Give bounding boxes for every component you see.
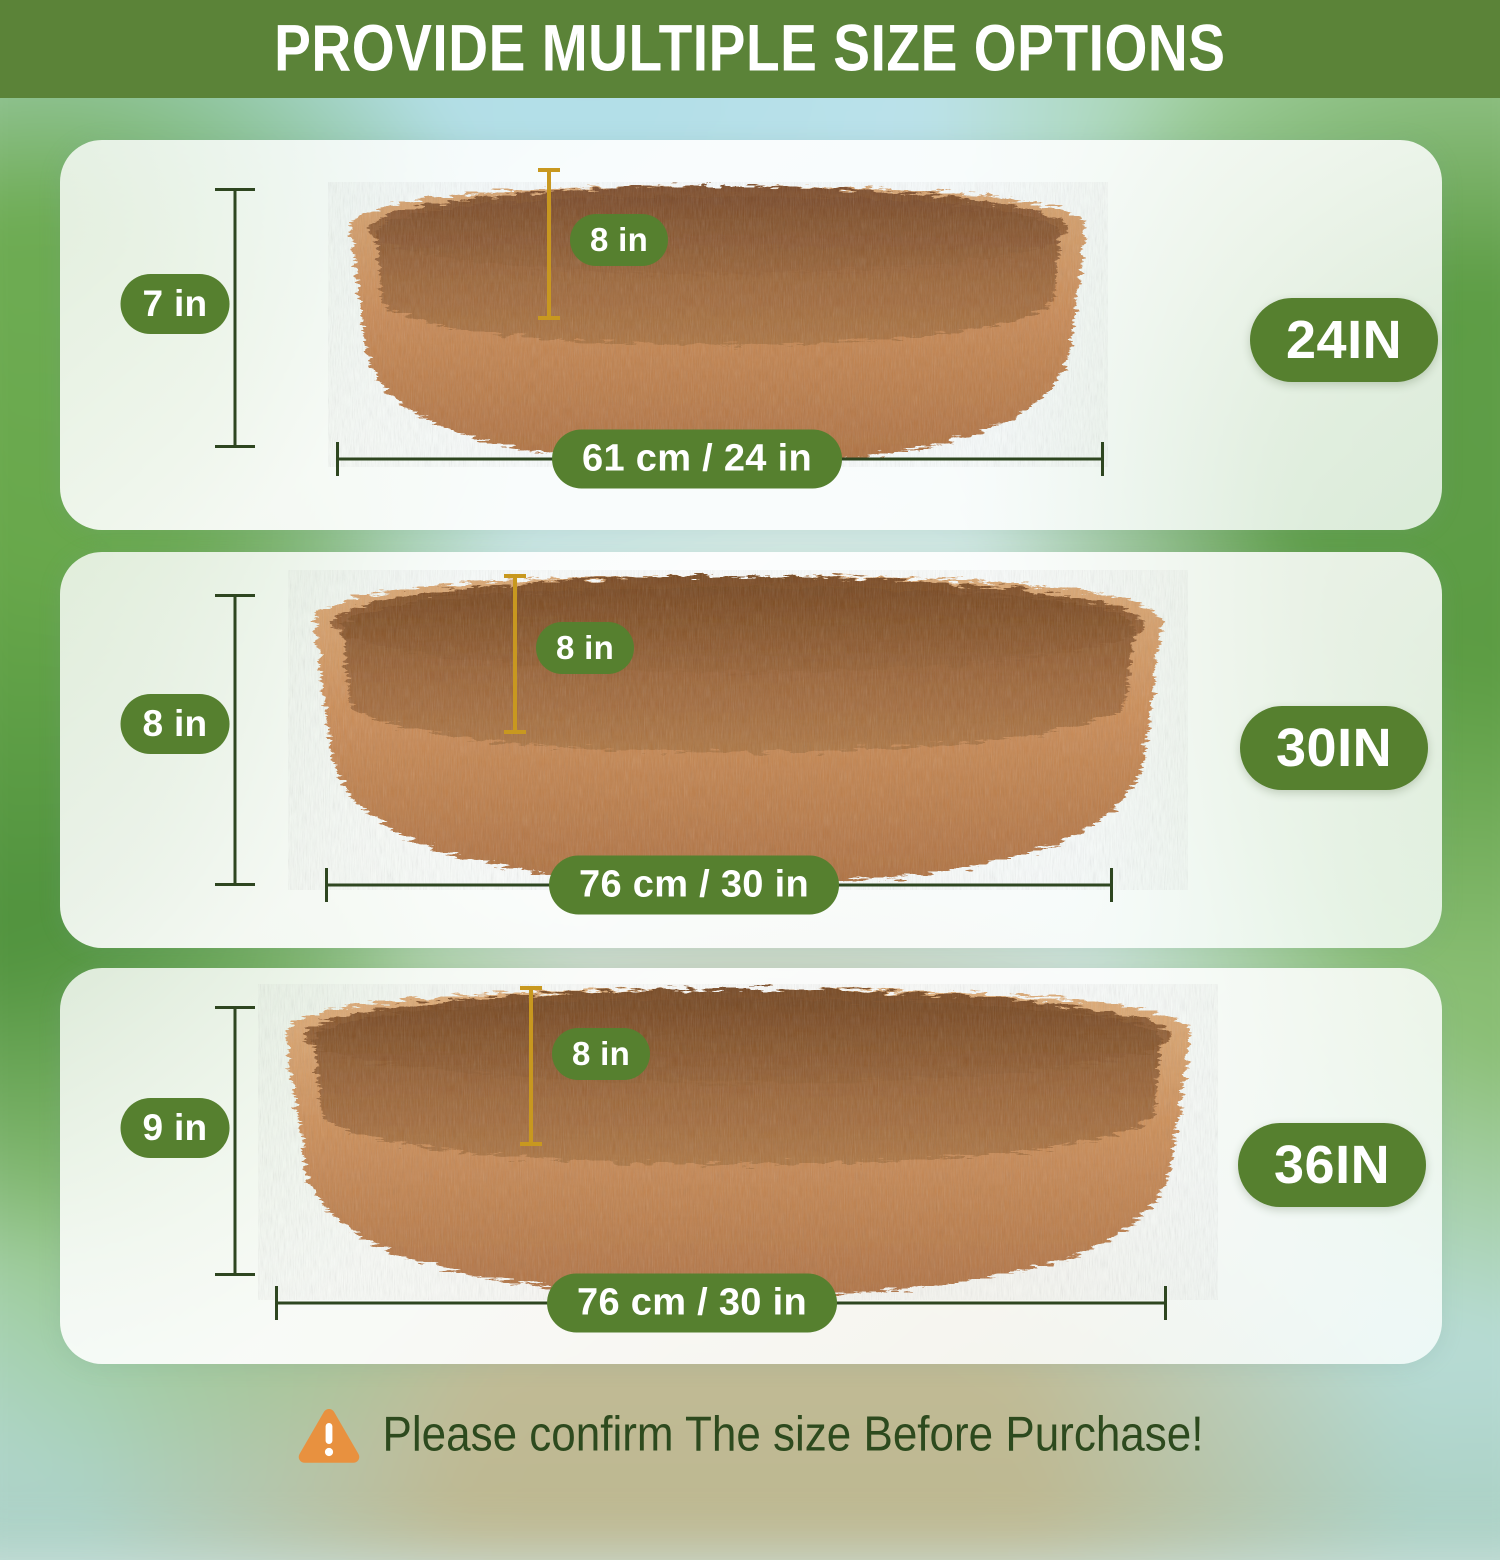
width-label-24in: 61 cm / 24 in	[552, 430, 842, 489]
depth-label-36in: 8 in	[552, 1028, 650, 1080]
size-badge-24in: 24IN	[1250, 298, 1438, 382]
height-label-36in: 9 in	[121, 1098, 230, 1158]
height-label-24in: 7 in	[121, 274, 230, 334]
page-title: PROVIDE MULTIPLE SIZE OPTIONS	[274, 11, 1225, 87]
width-label-30in: 76 cm / 30 in	[549, 856, 839, 915]
basket-image-36in	[258, 984, 1218, 1300]
width-label-36in: 76 cm / 30 in	[547, 1274, 837, 1333]
footer-note-text: Please confirm The size Before Purchase!	[383, 1407, 1204, 1463]
depth-rule-36in	[520, 986, 542, 1146]
warning-triangle-icon	[297, 1406, 361, 1464]
basket-image-30in	[288, 570, 1188, 890]
basket-image-24in	[328, 182, 1108, 467]
depth-rule-30in	[504, 574, 526, 734]
footer-warning-note: Please confirm The size Before Purchase!	[0, 1392, 1500, 1478]
height-label-30in: 8 in	[121, 694, 230, 754]
depth-label-30in: 8 in	[536, 622, 634, 674]
size-card-30in: 8 in 8 in 76 cm / 30 in 30IN	[60, 552, 1442, 948]
size-badge-36in: 36IN	[1238, 1123, 1426, 1207]
depth-rule-24in	[538, 168, 560, 320]
size-badge-30in: 30IN	[1240, 706, 1428, 790]
size-card-24in: 8 in 7 in 61 cm / 24 in 24IN	[60, 140, 1442, 530]
header-banner: PROVIDE MULTIPLE SIZE OPTIONS	[0, 0, 1500, 98]
size-card-36in: 8 in 9 in 76 cm / 30 in 36IN	[60, 968, 1442, 1364]
depth-label-24in: 8 in	[570, 214, 668, 266]
